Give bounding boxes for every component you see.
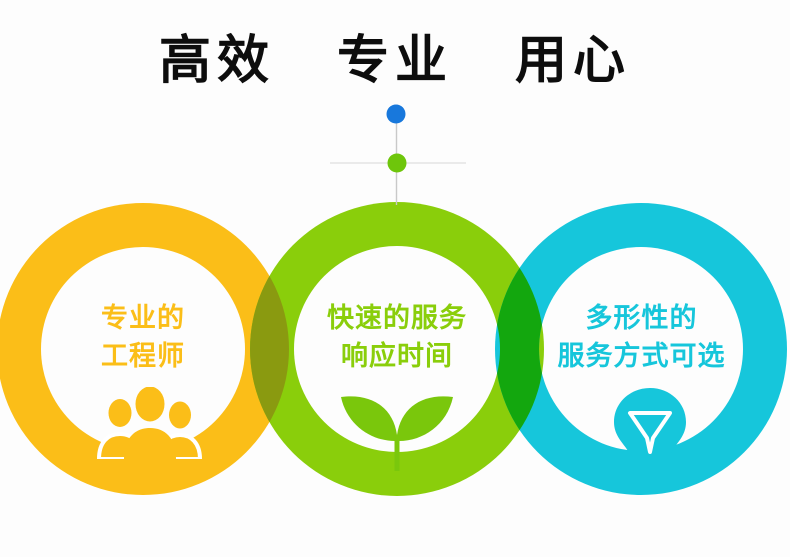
overlap-green-cyan	[0, 0, 790, 557]
poster-canvas: 高效 专业 用心	[0, 0, 790, 557]
venn-diagram	[0, 0, 790, 557]
